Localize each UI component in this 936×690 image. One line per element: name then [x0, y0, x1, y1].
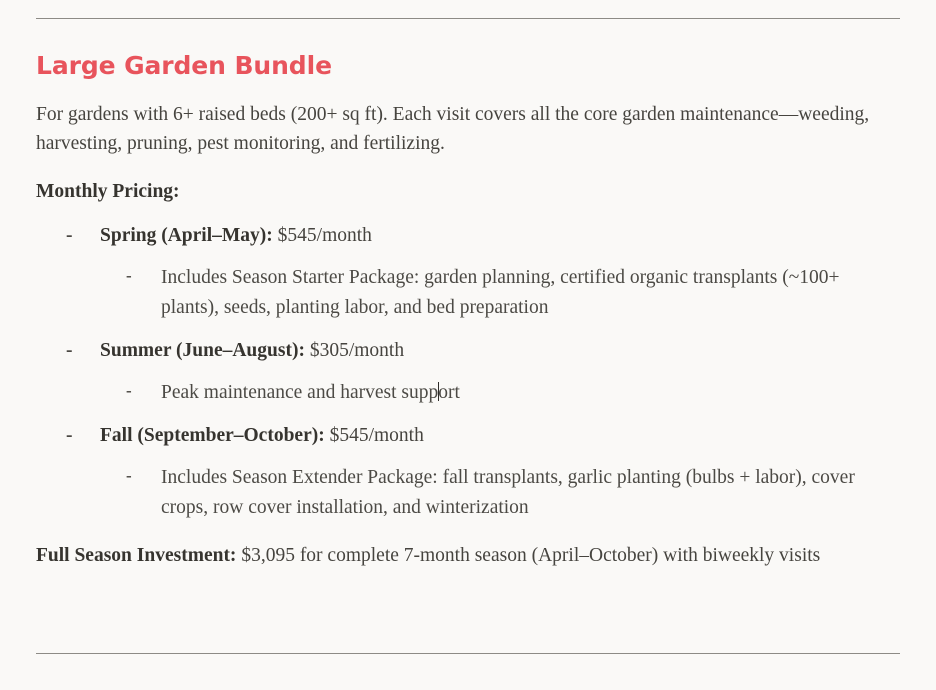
- pricing-item-value: $545/month: [325, 425, 424, 446]
- horizontal-rule-top: [36, 18, 900, 19]
- summary-paragraph: Full Season Investment: $3,095 for compl…: [36, 541, 900, 571]
- bullet-dash-icon: -: [126, 378, 136, 404]
- pricing-heading: Monthly Pricing:: [36, 177, 900, 207]
- bullet-dash-icon: -: [126, 263, 136, 289]
- summary-value: $3,095 for complete 7-month season (Apri…: [236, 545, 820, 566]
- pricing-sublist: - Includes Season Extender Package: fall…: [100, 463, 900, 522]
- pricing-subitem-text: Includes Season Extender Package: fall t…: [161, 467, 855, 518]
- pricing-item-lead: Spring (April–May):: [100, 225, 273, 246]
- list-item[interactable]: - Peak maintenance and harvest support: [100, 378, 900, 408]
- page-title: Large Garden Bundle: [36, 52, 900, 81]
- list-item: - Includes Season Starter Package: garde…: [100, 263, 900, 322]
- pricing-subitem-text: Includes Season Starter Package: garden …: [161, 267, 840, 318]
- bullet-dash-icon: -: [66, 221, 76, 251]
- document-content: Large Garden Bundle For gardens with 6+ …: [36, 52, 900, 588]
- bullet-dash-icon: -: [126, 463, 136, 489]
- pricing-subitem-text[interactable]: Peak maintenance and harvest support: [161, 382, 460, 403]
- pricing-sublist: - Peak maintenance and harvest support: [100, 378, 900, 408]
- summary-lead: Full Season Investment:: [36, 545, 236, 566]
- bullet-dash-icon: -: [66, 421, 76, 451]
- pricing-item-lead: Summer (June–August):: [100, 340, 305, 361]
- list-item: - Spring (April–May): $545/month - Inclu…: [36, 221, 900, 323]
- pricing-list: - Spring (April–May): $545/month - Inclu…: [36, 221, 900, 523]
- horizontal-rule-bottom: [36, 653, 900, 654]
- list-item: - Fall (September–October): $545/month -…: [36, 421, 900, 523]
- pricing-heading-label: Monthly Pricing:: [36, 181, 180, 202]
- pricing-item-value: $545/month: [273, 225, 372, 246]
- list-item: - Summer (June–August): $305/month - Pea…: [36, 336, 900, 408]
- document-page: Large Garden Bundle For gardens with 6+ …: [0, 0, 936, 690]
- bullet-dash-icon: -: [66, 336, 76, 366]
- pricing-item-value: $305/month: [305, 340, 404, 361]
- pricing-item-lead: Fall (September–October):: [100, 425, 325, 446]
- pricing-sublist: - Includes Season Starter Package: garde…: [100, 263, 900, 322]
- intro-paragraph: For gardens with 6+ raised beds (200+ sq…: [36, 100, 900, 159]
- list-item: - Includes Season Extender Package: fall…: [100, 463, 900, 522]
- subitem-text-after-caret: ort: [438, 382, 460, 403]
- subitem-text-before-caret: Peak maintenance and harvest supp: [161, 382, 438, 403]
